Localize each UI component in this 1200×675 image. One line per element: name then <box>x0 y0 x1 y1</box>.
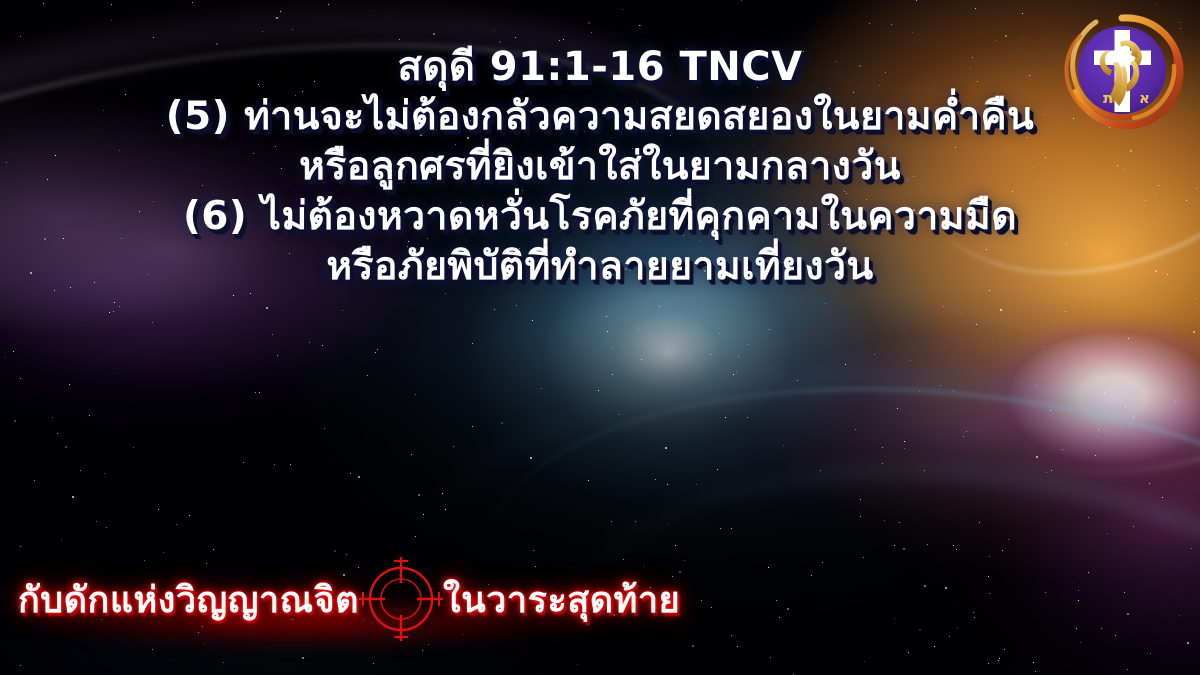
crosshair-target-icon <box>353 551 449 647</box>
scripture-line-2: หรือลูกศรที่ยิงเข้าใส่ในยามกลางวัน <box>0 142 1200 192</box>
starfield-bright <box>0 0 2 2</box>
scripture-block: สดุดี 91:1-16 TNCV (5) ท่านจะไม่ต้องกลัว… <box>0 46 1200 292</box>
lower-third-text-primary: กับดักแห่งวิญญาณจิต <box>18 571 359 628</box>
lower-third: กับดักแห่งวิญญาณจิต ในวาระสุดท้าย <box>18 551 680 647</box>
scripture-line-1: (5) ท่านจะไม่ต้องกลัวความสยดสยองในยามค่ำ… <box>0 92 1200 142</box>
slide-canvas: ת א สดุดี 91:1-16 TNCV (5) ท่านจะไม่ต้อง… <box>0 0 1200 675</box>
scripture-reference: สดุดี 91:1-16 TNCV <box>0 46 1200 88</box>
starfield <box>0 0 1 1</box>
lower-third-text-secondary: ในวาระสุดท้าย <box>443 571 680 628</box>
scripture-line-4: หรือภัยพิบัติที่ทำลายยามเที่ยงวัน <box>0 242 1200 292</box>
scripture-line-3: (6) ไม่ต้องหวาดหวั่นโรคภัยที่คุกคามในควา… <box>0 192 1200 242</box>
